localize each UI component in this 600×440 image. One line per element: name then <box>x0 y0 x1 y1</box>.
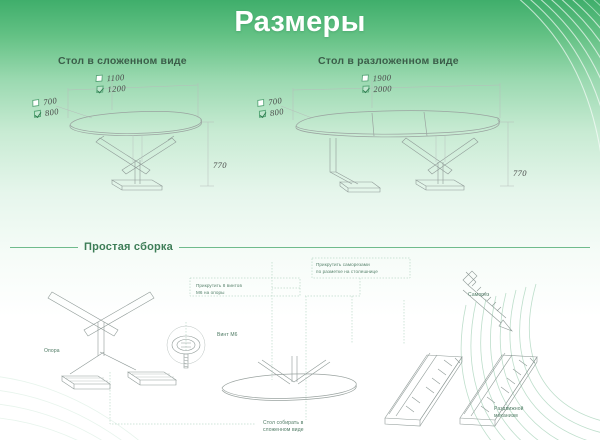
section-heading-unfolded: Стол в разложенном виде <box>318 55 459 67</box>
assembly-section-title: Простая сборка <box>84 241 173 253</box>
poster-page: Размеры Стол в сложенном виде Стол в раз… <box>0 0 600 440</box>
dimension-unfolded-depth: 700 800 <box>256 94 284 120</box>
swirl-decoration-bottom-left <box>0 290 190 440</box>
dimension-option-row[interactable]: 1200 <box>96 82 126 95</box>
checkbox-unchecked-icon[interactable] <box>361 74 369 81</box>
checkbox-checked-icon[interactable] <box>96 86 103 94</box>
annotation-self-tapping: Прикрутить саморезами по разметке на сто… <box>316 262 378 275</box>
checkbox-unchecked-icon[interactable] <box>95 75 102 83</box>
dimension-folded-depth: 700 800 <box>31 94 59 120</box>
dimension-value: 1100 <box>106 72 125 83</box>
dimension-option-row[interactable]: 800 <box>33 105 59 120</box>
divider-rule-right <box>179 247 590 248</box>
dimension-value: 800 <box>269 106 284 118</box>
dimension-value: 1200 <box>107 82 126 93</box>
checkbox-unchecked-icon[interactable] <box>257 99 264 107</box>
part-label-samorez: Саморез <box>468 292 489 299</box>
annotation-screws-8: Прикрутить 8 винтов М6 на опоры <box>196 283 242 296</box>
checkbox-checked-icon[interactable] <box>259 110 266 118</box>
page-title: Размеры <box>0 6 600 39</box>
dimension-unfolded-height: 770 <box>513 168 527 178</box>
dimension-folded-height: 770 <box>213 160 227 170</box>
dimension-value: 800 <box>44 106 59 118</box>
divider-rule-left <box>10 247 78 248</box>
part-label-mehanizm: Раздвижной механизм <box>494 406 524 421</box>
checkbox-unchecked-icon[interactable] <box>32 99 39 107</box>
swirl-decoration-top-right <box>400 0 600 260</box>
checkbox-checked-icon[interactable] <box>362 85 370 92</box>
assembly-section-divider: Простая сборка <box>10 238 590 256</box>
checkbox-checked-icon[interactable] <box>34 110 41 118</box>
dimension-value: 2000 <box>373 83 392 94</box>
section-heading-folded: Стол в сложенном виде <box>58 55 187 67</box>
dimension-unfolded-width: 1900 2000 <box>361 71 392 95</box>
dimension-option-row[interactable]: 1900 <box>361 71 391 84</box>
part-label-vint-m6: Винт М6 <box>217 332 238 339</box>
dimension-value: 1900 <box>372 72 391 83</box>
dimension-option-row[interactable]: 2000 <box>362 82 392 95</box>
note-assemble-folded: Стол собирать в сложенном виде <box>263 420 304 435</box>
dimension-folded-width: 1100 1200 <box>95 71 126 95</box>
part-label-opora: Опора <box>44 348 60 355</box>
dimension-option-row[interactable]: 800 <box>258 105 284 120</box>
